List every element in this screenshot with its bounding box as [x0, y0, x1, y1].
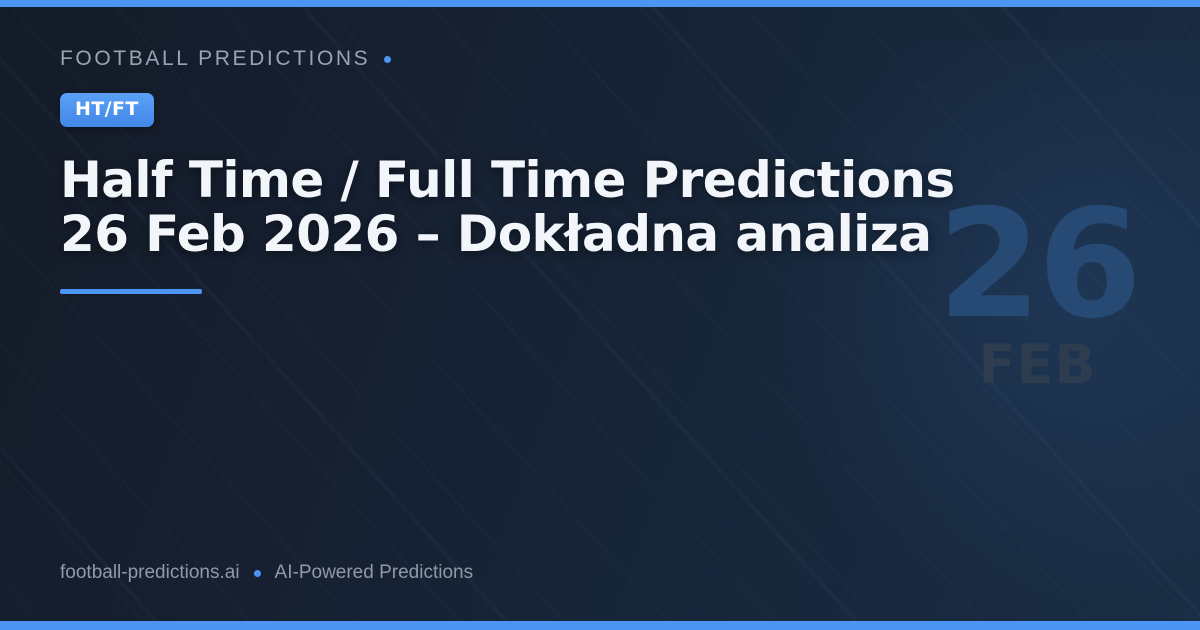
page-title: Half Time / Full Time Predictions 26 Feb… [60, 153, 990, 261]
footer: football-predictions.ai AI-Powered Predi… [60, 562, 473, 584]
eyebrow-row: FOOTBALL PREDICTIONS [60, 44, 1000, 74]
bottom-accent-bar [0, 621, 1200, 630]
footer-site[interactable]: football-predictions.ai [60, 562, 240, 584]
og-share-card: 26 FEB FOOTBALL PREDICTIONS HT/FT Half T… [0, 0, 1200, 630]
accent-underline [60, 289, 202, 294]
card-content: FOOTBALL PREDICTIONS HT/FT Half Time / F… [60, 44, 1000, 294]
bullet-dot-icon [384, 56, 391, 63]
top-accent-bar [0, 0, 1200, 7]
category-badge[interactable]: HT/FT [60, 93, 154, 127]
footer-tagline: AI-Powered Predictions [275, 562, 474, 584]
bullet-dot-icon [254, 570, 261, 577]
eyebrow-label: FOOTBALL PREDICTIONS [60, 47, 370, 71]
